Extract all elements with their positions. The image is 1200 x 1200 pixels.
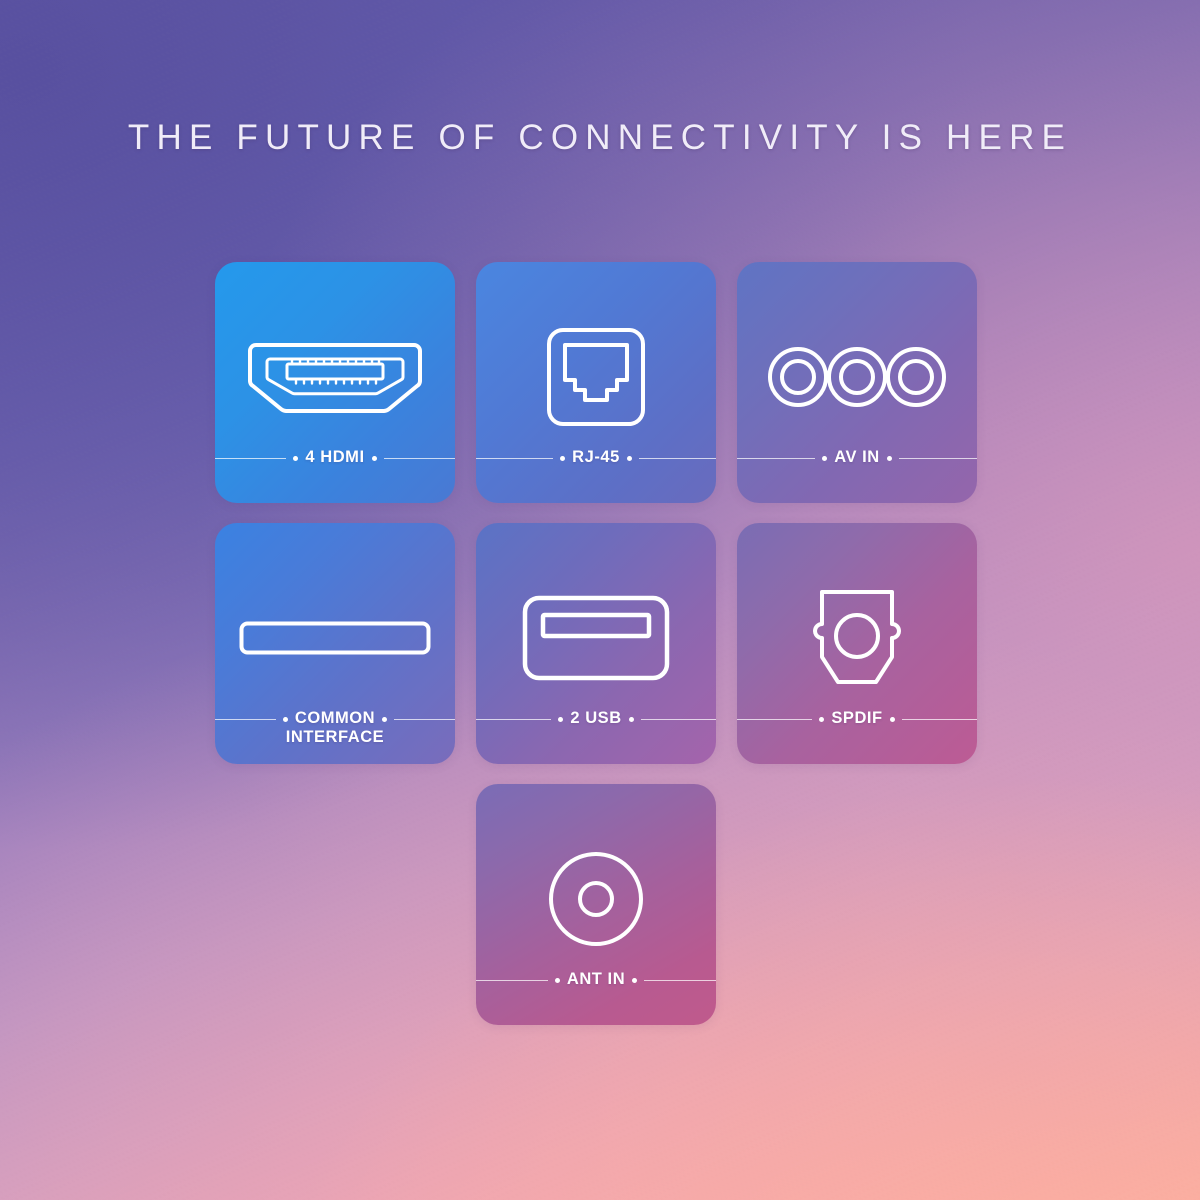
port-tile-hdmi[interactable]: 4 HDMI	[215, 262, 455, 503]
usb-port-icon	[476, 575, 716, 701]
tile-label-row-usb: 2 USB	[476, 706, 716, 732]
connector-rule-left	[737, 458, 815, 459]
tile-label-row-hdmi: 4 HDMI	[215, 445, 455, 471]
port-tile-usb[interactable]: 2 USB	[476, 523, 716, 764]
port-label-common-interface: COMMON INTERFACE	[295, 709, 375, 728]
port-tile-av-in[interactable]: AV IN	[737, 262, 977, 503]
connector-rule-left	[215, 719, 276, 720]
connector-dot-right	[629, 717, 634, 722]
connector-dot-left	[293, 456, 298, 461]
rca-triple-jack-icon	[737, 314, 977, 440]
port-label-hdmi: 4 HDMI	[305, 448, 364, 467]
port-label-line1: COMMON	[295, 709, 375, 727]
connector-dot-left	[819, 717, 824, 722]
connector-rule-left	[476, 458, 553, 459]
connector-rule-left	[215, 458, 286, 459]
connector-dot-left	[558, 717, 563, 722]
tile-label-row-ant-in: ANT IN	[476, 967, 716, 993]
port-label-line2: INTERFACE	[286, 728, 384, 747]
port-label-spdif: SPDIF	[831, 709, 882, 728]
port-label-ant-in: ANT IN	[567, 970, 625, 989]
ci-card-slot-icon	[215, 575, 455, 701]
connector-dot-right	[382, 717, 387, 722]
ports-grid: 4 HDMI RJ-45	[215, 262, 978, 1025]
connector-dot-left	[822, 456, 827, 461]
connector-dot-left	[560, 456, 565, 461]
connector-rule-right	[899, 458, 977, 459]
port-label-av-in: AV IN	[834, 448, 880, 467]
port-label-rj45: RJ-45	[572, 448, 620, 467]
connector-dot-left	[283, 717, 288, 722]
port-tile-spdif[interactable]: SPDIF	[737, 523, 977, 764]
rj45-ethernet-jack-icon	[476, 314, 716, 440]
connector-rule-left	[737, 719, 812, 720]
connector-rule-right	[384, 458, 455, 459]
connector-dot-right	[890, 717, 895, 722]
connector-rule-left	[476, 980, 548, 981]
page-title: THE FUTURE OF CONNECTIVITY IS HERE	[0, 118, 1200, 158]
tile-label-row-av-in: AV IN	[737, 445, 977, 471]
connector-dot-right	[887, 456, 892, 461]
connector-rule-left	[476, 719, 551, 720]
hdmi-port-icon	[215, 314, 455, 440]
spdif-optical-port-icon	[737, 575, 977, 701]
connector-dot-right	[627, 456, 632, 461]
port-tile-rj45[interactable]: RJ-45	[476, 262, 716, 503]
port-tile-ant-in[interactable]: ANT IN	[476, 784, 716, 1025]
connector-dot-right	[632, 978, 637, 983]
connector-dot-right	[372, 456, 377, 461]
connector-rule-right	[644, 980, 716, 981]
connector-rule-right	[639, 458, 716, 459]
connector-dot-left	[555, 978, 560, 983]
port-tile-common-interface[interactable]: COMMON INTERFACE	[215, 523, 455, 764]
tile-label-row-common-interface: COMMON INTERFACE	[215, 706, 455, 732]
connector-rule-right	[902, 719, 977, 720]
tile-label-row-rj45: RJ-45	[476, 445, 716, 471]
coax-antenna-jack-icon	[476, 836, 716, 962]
connector-rule-right	[641, 719, 716, 720]
tile-label-row-spdif: SPDIF	[737, 706, 977, 732]
port-label-usb: 2 USB	[570, 709, 621, 728]
connector-rule-right	[394, 719, 455, 720]
